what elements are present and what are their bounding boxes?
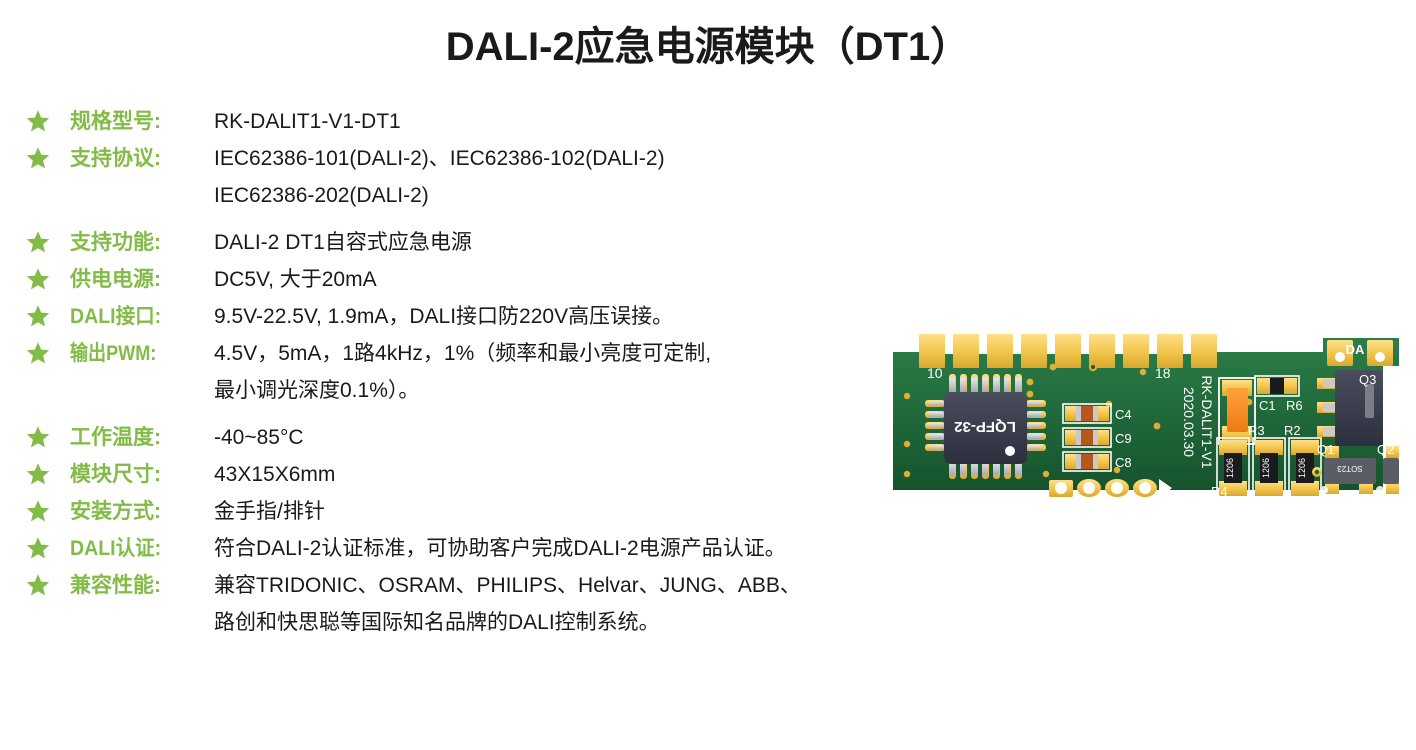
spec-value: 兼容TRIDONIC、OSRAM、PHILIPS、Helvar、JUNG、ABB… bbox=[206, 567, 906, 641]
star-icon bbox=[26, 425, 50, 449]
gold-finger bbox=[1157, 334, 1183, 368]
silkscreen-1206-c: 1206 bbox=[1297, 458, 1307, 478]
spec-row: 安装方式: 金手指/排针 bbox=[26, 493, 906, 530]
spec-value-line: 路创和快思聪等国际知名品牌的DALI控制系统。 bbox=[214, 604, 906, 641]
star-icon bbox=[26, 267, 50, 291]
spec-label: 供电电源: bbox=[70, 261, 206, 298]
silkscreen-pin-right: 18 bbox=[1155, 365, 1171, 381]
star-icon bbox=[26, 499, 50, 523]
silkscreen-date-code: 2020.03.30 bbox=[1181, 387, 1197, 457]
gold-finger-group bbox=[919, 334, 1217, 368]
spec-value: 金手指/排针 bbox=[206, 493, 906, 530]
spec-value-line: IEC62386-101(DALI-2)、IEC62386-102(DALI-2… bbox=[214, 140, 906, 177]
silkscreen-pin-left: 10 bbox=[927, 365, 943, 381]
silkscreen-r6: R6 bbox=[1286, 398, 1303, 413]
star-cell bbox=[26, 261, 70, 291]
star-cell bbox=[26, 456, 70, 486]
spec-row: DALI认证: 符合DALI-2认证标准，可协助客户完成DALI-2电源产品认证… bbox=[26, 530, 906, 567]
spec-label: 支持协议: bbox=[70, 140, 206, 177]
spec-value-line: IEC62386-202(DALI-2) bbox=[214, 177, 906, 214]
star-cell bbox=[26, 140, 70, 170]
spec-value-line: 金手指/排针 bbox=[214, 493, 906, 530]
through-hole-pad-group bbox=[1049, 479, 1172, 498]
gold-finger bbox=[953, 334, 979, 368]
da-pad-hole-right bbox=[1375, 352, 1385, 362]
capacitor-c1 bbox=[1227, 388, 1248, 432]
gold-finger bbox=[1123, 334, 1149, 368]
star-icon bbox=[26, 146, 50, 170]
silkscreen-chip-label: LQFP-32 bbox=[954, 418, 1016, 435]
spec-label: DALI接口: bbox=[70, 298, 206, 335]
star-icon bbox=[26, 230, 50, 254]
spec-value: RK-DALIT1-V1-DT1 bbox=[206, 103, 906, 140]
via bbox=[904, 441, 910, 447]
pad bbox=[1257, 378, 1271, 394]
pad bbox=[1291, 481, 1319, 496]
silkscreen-c9: C9 bbox=[1115, 431, 1132, 446]
star-cell bbox=[26, 298, 70, 328]
spec-row: 支持协议: IEC62386-101(DALI-2)、IEC62386-102(… bbox=[26, 140, 906, 214]
spec-value-line: 最小调光深度0.1%）。 bbox=[214, 372, 906, 409]
spec-label: 规格型号: bbox=[70, 103, 206, 140]
spec-value-line: 兼容TRIDONIC、OSRAM、PHILIPS、Helvar、JUNG、ABB… bbox=[214, 567, 906, 604]
silkscreen-sot23-a: SOT23 bbox=[1337, 464, 1363, 473]
silkscreen-c4: C4 bbox=[1115, 407, 1132, 422]
silkscreen-r2: R2 bbox=[1284, 423, 1301, 438]
pad bbox=[1283, 378, 1297, 394]
spec-label: 输出PWM: bbox=[70, 335, 206, 372]
da-pad-hole-left bbox=[1335, 352, 1345, 362]
gold-finger bbox=[919, 334, 945, 368]
star-cell bbox=[26, 335, 70, 365]
via bbox=[904, 393, 910, 399]
via bbox=[1050, 364, 1057, 371]
star-cell bbox=[26, 224, 70, 254]
silkscreen-part-number: RK-DALIT1-V1 bbox=[1199, 375, 1215, 469]
product-spec-page: DALI-2应急电源模块（DT1） 规格型号: RK-DALIT1-V1-DT1… bbox=[0, 0, 1416, 750]
via bbox=[1140, 369, 1146, 375]
spec-value: -40~85°C bbox=[206, 419, 906, 456]
spec-value-line: DALI-2 DT1自容式应急电源 bbox=[214, 224, 906, 261]
spec-value-line: 符合DALI-2认证标准，可协助客户完成DALI-2电源产品认证。 bbox=[214, 530, 906, 567]
resistor-r6 bbox=[1270, 378, 1284, 394]
star-cell bbox=[26, 530, 70, 560]
silkscreen-c8: C8 bbox=[1115, 455, 1132, 470]
spec-value-line: 43X15X6mm bbox=[214, 456, 906, 493]
silkscreen-c1: C1 bbox=[1259, 398, 1276, 413]
star-cell bbox=[26, 493, 70, 523]
star-cell bbox=[26, 567, 70, 597]
spec-row: DALI接口: 9.5V-22.5V, 1.9mA，DALI接口防220V高压误… bbox=[26, 298, 906, 335]
spec-value: 43X15X6mm bbox=[206, 456, 906, 493]
spec-label: 兼容性能: bbox=[70, 567, 206, 604]
spec-list: 规格型号: RK-DALIT1-V1-DT1 支持协议: IEC62386-10… bbox=[26, 103, 906, 641]
star-icon bbox=[26, 304, 50, 328]
pad bbox=[1255, 440, 1283, 455]
star-icon bbox=[26, 109, 50, 133]
via bbox=[1027, 379, 1034, 386]
spec-value: 4.5V，5mA，1路4kHz，1%（频率和最小亮度可定制, 最小调光深度0.1… bbox=[206, 335, 906, 409]
spec-row: 规格型号: RK-DALIT1-V1-DT1 bbox=[26, 103, 906, 140]
pcb-board-image: DA 10 18 bbox=[893, 322, 1399, 518]
silkscreen-r3: R3 bbox=[1248, 423, 1265, 438]
star-icon bbox=[26, 536, 50, 560]
silkscreen-q1: Q1 bbox=[1317, 442, 1334, 457]
gold-finger bbox=[1191, 334, 1217, 368]
spec-row: 支持功能: DALI-2 DT1自容式应急电源 bbox=[26, 224, 906, 261]
via bbox=[1091, 365, 1095, 369]
spec-label: 安装方式: bbox=[70, 493, 206, 530]
capacitor-c8 bbox=[1079, 454, 1095, 469]
star-cell bbox=[26, 419, 70, 449]
spec-row: 兼容性能: 兼容TRIDONIC、OSRAM、PHILIPS、Helvar、JU… bbox=[26, 567, 906, 641]
pcb-svg: DA 10 18 bbox=[893, 322, 1399, 518]
silkscreen-1206-a: 1206 bbox=[1225, 458, 1235, 478]
via bbox=[904, 471, 910, 477]
gold-finger bbox=[987, 334, 1013, 368]
gold-finger bbox=[1055, 334, 1081, 368]
page-title: DALI-2应急电源模块（DT1） bbox=[0, 14, 1416, 72]
spec-value-line: RK-DALIT1-V1-DT1 bbox=[214, 103, 906, 140]
spec-value-line: 9.5V-22.5V, 1.9mA，DALI接口防220V高压误接。 bbox=[214, 298, 906, 335]
pad bbox=[1219, 440, 1247, 455]
via bbox=[1043, 471, 1049, 477]
silkscreen-q2: Q2 bbox=[1377, 442, 1394, 457]
spec-label: DALI认证: bbox=[70, 530, 206, 567]
spec-value: IEC62386-101(DALI-2)、IEC62386-102(DALI-2… bbox=[206, 140, 906, 214]
chip-pin1-dot bbox=[1005, 446, 1015, 456]
star-cell bbox=[26, 103, 70, 133]
star-icon bbox=[26, 573, 50, 597]
spec-value-line: 4.5V，5mA，1路4kHz，1%（频率和最小亮度可定制, bbox=[214, 335, 906, 372]
spec-value: 9.5V-22.5V, 1.9mA，DALI接口防220V高压误接。 bbox=[206, 298, 906, 335]
spec-value: 符合DALI-2认证标准，可协助客户完成DALI-2电源产品认证。 bbox=[206, 530, 906, 567]
via bbox=[1027, 391, 1034, 398]
pad bbox=[1291, 440, 1319, 455]
gold-finger bbox=[1021, 334, 1047, 368]
spec-label: 模块尺寸: bbox=[70, 456, 206, 493]
spec-row: 模块尺寸: 43X15X6mm bbox=[26, 456, 906, 493]
silkscreen-da: DA bbox=[1346, 342, 1365, 357]
spec-value-line: DC5V, 大于20mA bbox=[214, 261, 906, 298]
spec-label: 工作温度: bbox=[70, 419, 206, 456]
star-icon bbox=[26, 341, 50, 365]
capacitor-c4 bbox=[1079, 406, 1095, 421]
capacitor-c9 bbox=[1079, 430, 1095, 445]
silkscreen-1206-b: 1206 bbox=[1261, 458, 1271, 478]
star-icon bbox=[26, 462, 50, 486]
spec-value-line: -40~85°C bbox=[214, 419, 906, 456]
capacitor-group: C4 C9 C8 bbox=[1063, 404, 1132, 471]
silkscreen-r4: R4 bbox=[1211, 484, 1228, 499]
spec-row: 工作温度: -40~85°C bbox=[26, 419, 906, 456]
pad bbox=[1255, 481, 1283, 496]
spec-value: DALI-2 DT1自容式应急电源 bbox=[206, 224, 906, 261]
spec-row: 供电电源: DC5V, 大于20mA bbox=[26, 261, 906, 298]
silkscreen-q3: Q3 bbox=[1359, 372, 1376, 387]
spec-value: DC5V, 大于20mA bbox=[206, 261, 906, 298]
spec-row: 输出PWM: 4.5V，5mA，1路4kHz，1%（频率和最小亮度可定制, 最小… bbox=[26, 335, 906, 409]
spec-label: 支持功能: bbox=[70, 224, 206, 261]
via bbox=[1154, 423, 1161, 430]
